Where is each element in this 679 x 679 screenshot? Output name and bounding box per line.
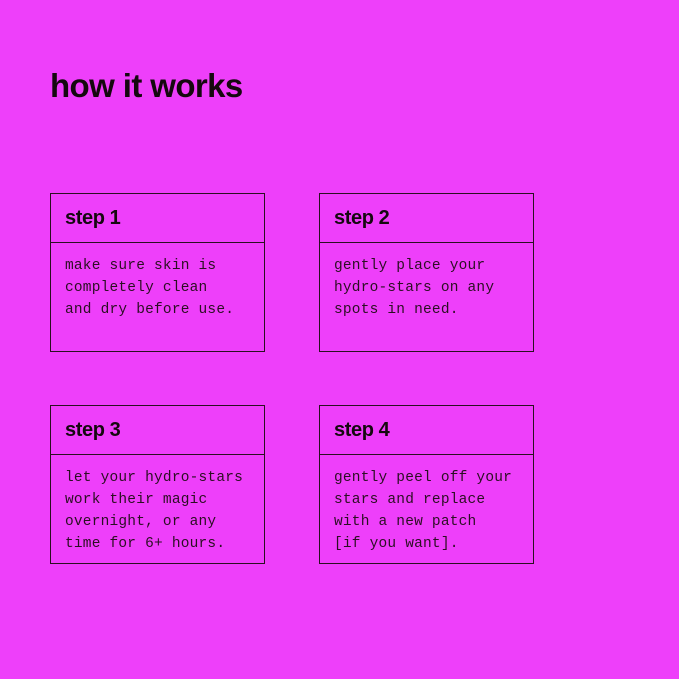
step-card-3-text: let your hydro-stars work their magic ov… (65, 467, 254, 555)
step-card-3-label: step 3 (65, 419, 120, 441)
step-card-2-header: step 2 (320, 194, 533, 243)
step-card-3: step 3 let your hydro-stars work their m… (50, 405, 265, 564)
step-card-4-text: gently peel off your stars and replace w… (334, 467, 523, 555)
step-card-4-label: step 4 (334, 419, 389, 441)
step-card-3-header: step 3 (51, 406, 264, 455)
step-card-2: step 2 gently place your hydro-stars on … (319, 193, 534, 352)
step-card-2-label: step 2 (334, 207, 389, 229)
step-card-1-header: step 1 (51, 194, 264, 243)
step-card-2-body: gently place your hydro-stars on any spo… (320, 243, 533, 321)
step-card-1-label: step 1 (65, 207, 120, 229)
step-card-1-body: make sure skin is completely clean and d… (51, 243, 264, 321)
page-title: how it works (50, 66, 243, 106)
step-card-4-header: step 4 (320, 406, 533, 455)
step-card-2-text: gently place your hydro-stars on any spo… (334, 255, 523, 321)
step-card-3-body: let your hydro-stars work their magic ov… (51, 455, 264, 555)
step-card-4: step 4 gently peel off your stars and re… (319, 405, 534, 564)
step-card-1-text: make sure skin is completely clean and d… (65, 255, 254, 321)
step-card-4-body: gently peel off your stars and replace w… (320, 455, 533, 555)
step-card-1: step 1 make sure skin is completely clea… (50, 193, 265, 352)
how-it-works-panel: how it works step 1 make sure skin is co… (0, 0, 679, 679)
